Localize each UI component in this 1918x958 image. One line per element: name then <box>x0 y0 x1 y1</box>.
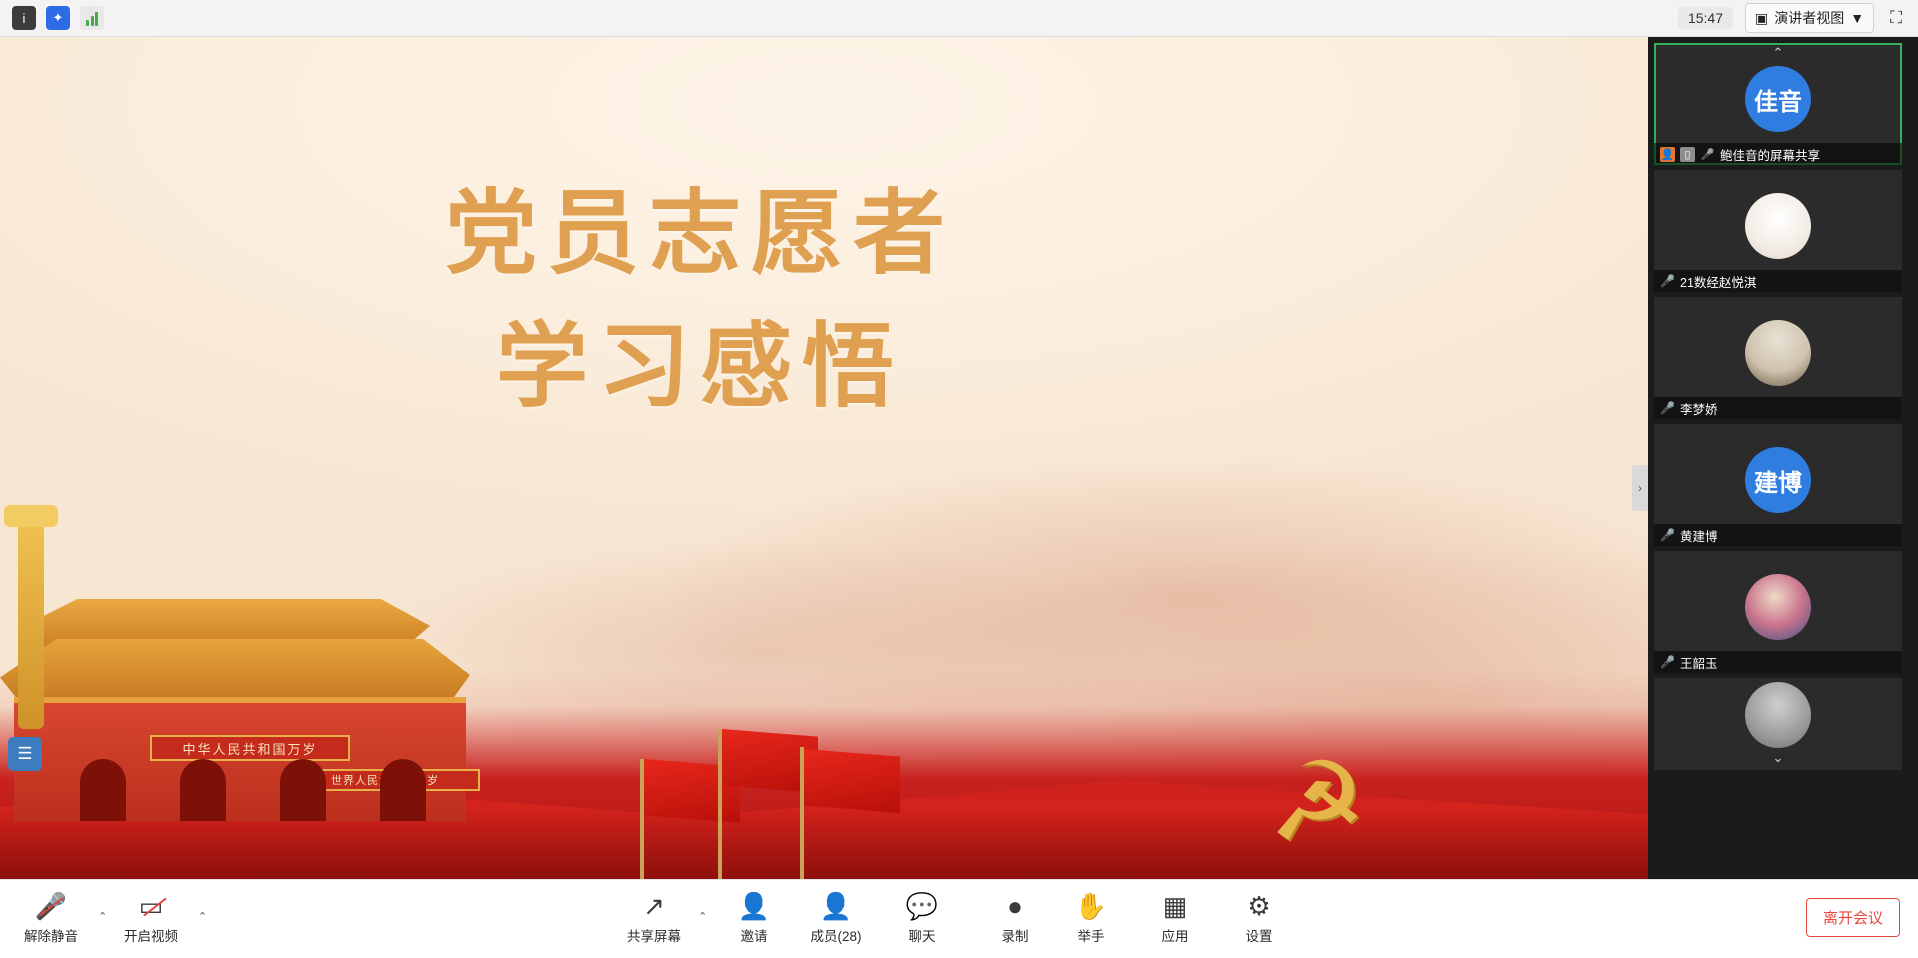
toolbar-item-share-screen[interactable]: ↗ 共享屏幕 <box>615 890 693 945</box>
toolbar-label: 共享屏幕 <box>627 925 681 945</box>
participant-info-bar: 🎤 王韶玉 <box>1654 651 1902 673</box>
flag-pole <box>718 729 722 879</box>
participant-tile[interactable]: 🎤 王韶玉 <box>1654 551 1902 673</box>
gate-arch <box>380 759 426 821</box>
participant-info-bar: 🎤 21数经赵悦淇 <box>1654 270 1902 292</box>
toolbar-label: 应用 <box>1162 925 1189 945</box>
scroll-up-icon[interactable]: ⌃ <box>1773 45 1784 61</box>
fullscreen-icon[interactable]: ⛶ <box>1886 8 1906 28</box>
mic-muted-icon: 🎤 <box>1660 655 1675 670</box>
participant-info-bar: 🎤 黄建博 <box>1654 524 1902 546</box>
meeting-toolbar: 🎤 解除静音 ⌃ ▭ 开启视频 ⌃ ↗ 共享屏幕 ⌃ 👤 邀请 👤 成员(28)… <box>0 879 1918 958</box>
toolbar-label: 聊天 <box>909 925 936 945</box>
chat-icon: 💬 <box>906 890 938 922</box>
flag-pole <box>640 759 644 879</box>
network-signal-icon[interactable] <box>80 6 104 30</box>
toolbar-item-invite[interactable]: 👤 邀请 <box>715 890 793 945</box>
mic-muted-icon: 🎤 <box>35 890 67 922</box>
toolbar-item-apps[interactable]: ▦ 应用 <box>1136 890 1214 945</box>
toolbar-item-settings[interactable]: ⚙ 设置 <box>1220 890 1298 945</box>
mic-muted-icon: 🎤 <box>1660 401 1675 416</box>
gate-roof <box>0 639 470 701</box>
host-icon: 👤 <box>1660 147 1675 162</box>
view-mode-selector[interactable]: ▣ 演讲者视图 ▼ <box>1745 3 1874 33</box>
toolbar-label: 开启视频 <box>124 925 178 945</box>
mic-muted-icon: 🎤 <box>1660 528 1675 543</box>
invite-icon: 👤 <box>738 890 770 922</box>
flag-pole <box>800 747 804 879</box>
participant-name: 21数经赵悦淇 <box>1680 272 1756 291</box>
slide-title-line1: 党员志愿者 <box>0 167 1400 300</box>
party-emblem-icon: ☭ <box>1268 747 1418 865</box>
avatar <box>1745 193 1811 259</box>
shield-icon[interactable]: ✦ <box>46 6 70 30</box>
toolbar-label: 解除静音 <box>24 925 78 945</box>
screen-share-icon: ▯ <box>1680 147 1695 162</box>
tiananmen-illustration: 中华人民共和国万岁 世界人民大团结万岁 <box>0 519 520 879</box>
toolbar-label: 设置 <box>1246 925 1273 945</box>
participant-name: 李梦娇 <box>1680 399 1718 418</box>
speaker-view-icon: ▣ <box>1755 10 1768 27</box>
panel-collapse-toggle[interactable]: › <box>1632 465 1648 511</box>
slide-list-icon[interactable]: ☰ <box>8 737 42 771</box>
apps-icon: ▦ <box>1163 890 1188 922</box>
slide-title: 党员志愿者 学习感悟 <box>0 167 1400 434</box>
record-icon: ● <box>1007 890 1023 922</box>
toolbar-item-start-video[interactable]: ▭ 开启视频 <box>112 890 190 945</box>
toolbar-label: 邀请 <box>741 925 768 945</box>
chevron-down-icon: ▼ <box>1850 10 1864 26</box>
gate-arch <box>180 759 226 821</box>
avatar: 佳音 <box>1745 66 1811 132</box>
avatar <box>1745 682 1811 748</box>
top-bar: i ✦ 15:47 ▣ 演讲者视图 ▼ ⛶ <box>0 0 1918 37</box>
gate-arch <box>80 759 126 821</box>
participant-tile[interactable]: ⌄ <box>1654 678 1902 770</box>
info-icon[interactable]: i <box>12 6 36 30</box>
video-off-icon: ▭ <box>139 890 164 922</box>
avatar <box>1745 574 1811 640</box>
avatar-initials: 佳音 <box>1754 82 1802 117</box>
participants-icon: 👤 <box>820 890 852 922</box>
participant-name: 黄建博 <box>1680 526 1718 545</box>
participant-info-bar: 👤 ▯ 🎤 鲍佳音的屏幕共享 <box>1654 143 1902 165</box>
screen-share-icon: ↗ <box>643 890 665 922</box>
participant-name: 王韶玉 <box>1680 653 1718 672</box>
audio-options-caret[interactable]: ⌃ <box>98 910 107 923</box>
toolbar-item-participants[interactable]: 👤 成员(28) <box>797 890 875 945</box>
mic-muted-icon: 🎤 <box>1660 274 1675 289</box>
slide-title-line2: 学习感悟 <box>0 300 1400 433</box>
huabiao-pillar-top <box>4 505 58 527</box>
video-options-caret[interactable]: ⌃ <box>198 910 207 923</box>
participant-tile[interactable]: 🎤 李梦娇 <box>1654 297 1902 419</box>
mic-icon: 🎤 <box>1700 147 1715 162</box>
leave-meeting-button[interactable]: 离开会议 <box>1806 898 1900 937</box>
settings-gear-icon: ⚙ <box>1247 890 1270 922</box>
view-mode-label: 演讲者视图 <box>1774 8 1844 28</box>
toolbar-label: 录制 <box>1002 925 1029 945</box>
clock: 15:47 <box>1678 7 1733 29</box>
toolbar-item-raise-hand[interactable]: ✋ 举手 <box>1052 890 1130 945</box>
top-bar-left: i ✦ <box>0 6 104 30</box>
participant-name: 鲍佳音的屏幕共享 <box>1720 145 1820 164</box>
toolbar-item-unmute[interactable]: 🎤 解除静音 <box>12 890 90 945</box>
participant-tile[interactable]: 建博 🎤 黄建博 <box>1654 424 1902 546</box>
huabiao-pillar <box>18 519 44 729</box>
avatar-initials: 建博 <box>1754 463 1802 498</box>
participant-info-bar: 🎤 李梦娇 <box>1654 397 1902 419</box>
meeting-window: i ✦ 15:47 ▣ 演讲者视图 ▼ ⛶ 党员志愿者 学习感悟 <box>0 0 1918 958</box>
avatar <box>1745 320 1811 386</box>
shared-screen-stage[interactable]: 党员志愿者 学习感悟 中华人民共和国万岁 世界人民大团结万岁 ☭ ☰ › <box>0 37 1648 879</box>
scroll-down-icon[interactable]: ⌄ <box>1773 750 1784 766</box>
toolbar-item-chat[interactable]: 💬 聊天 <box>883 890 961 945</box>
share-options-caret[interactable]: ⌃ <box>698 910 707 923</box>
raise-hand-icon: ✋ <box>1075 890 1107 922</box>
china-flag <box>804 749 900 813</box>
toolbar-label: 举手 <box>1078 925 1105 945</box>
participant-tile[interactable]: 🎤 21数经赵悦淇 <box>1654 170 1902 292</box>
gate-arch <box>280 759 326 821</box>
participant-filmstrip[interactable]: ⌃ 佳音 👤 ▯ 🎤 鲍佳音的屏幕共享 🎤 21数经赵悦淇 🎤 李梦娇 <box>1648 37 1918 879</box>
participant-tile[interactable]: ⌃ 佳音 👤 ▯ 🎤 鲍佳音的屏幕共享 <box>1654 43 1902 165</box>
toolbar-label: 成员(28) <box>810 925 861 945</box>
toolbar-item-record[interactable]: ● 录制 <box>976 890 1054 945</box>
top-bar-right: 15:47 ▣ 演讲者视图 ▼ ⛶ <box>1678 3 1918 33</box>
avatar: 建博 <box>1745 447 1811 513</box>
gate-banner-main: 中华人民共和国万岁 <box>150 735 350 761</box>
